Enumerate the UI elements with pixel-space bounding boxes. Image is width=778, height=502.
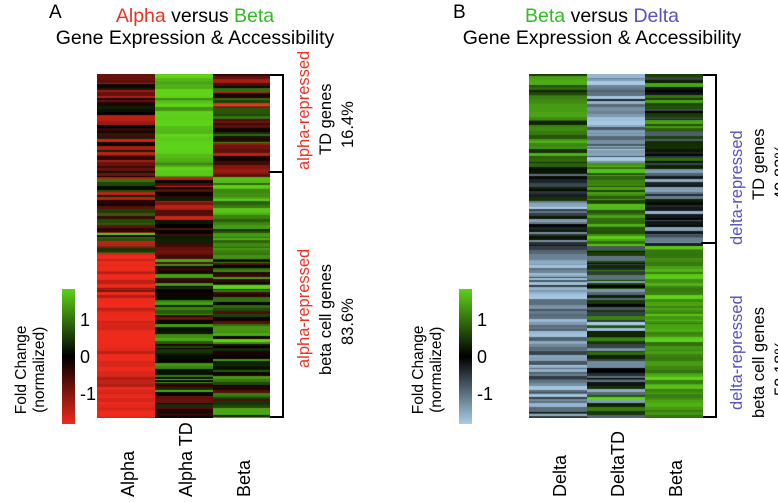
panel-a-colorbar-axis-label-line1: Fold Change xyxy=(13,310,31,430)
panel-b-group2-label-colored: delta-repressed xyxy=(729,295,746,410)
panel-a-colorbar-tick-1: 1 xyxy=(80,311,90,329)
panel-b-colorbar-tick-0: 0 xyxy=(477,348,487,366)
panel-a-xlabel-alpha-td: Alpha TD xyxy=(177,422,195,497)
panel-b-colorbar xyxy=(459,289,472,424)
panel-a-colorbar-axis-label-line2: (normalized) xyxy=(31,310,49,430)
panel-a-group2-percent: 83.6% xyxy=(340,298,357,345)
panel-b-title-line1: Beta versus Delta xyxy=(437,6,767,28)
panel-b-colorbar-ticks: 1 0 -1 xyxy=(477,289,517,424)
panel-a-heatmap-column-alpha-td xyxy=(155,74,213,418)
panel-b-xlabel-deltatd: DeltaTD xyxy=(609,431,627,497)
panel-a-colorbar-tick-0: 0 xyxy=(80,348,90,366)
panel-b-xlabel-beta: Beta xyxy=(667,460,685,497)
panel-b-title-token-beta: Beta xyxy=(525,5,565,27)
panel-a-heatmap xyxy=(97,74,270,418)
panel-b-group-divider-tick xyxy=(701,242,717,244)
panel-b-title-token-delta: Delta xyxy=(633,5,679,27)
panel-b-xlabel-delta: Delta xyxy=(551,455,569,497)
panel-a-xlabel-alpha: Alpha xyxy=(119,451,137,497)
panel-b-heatmap-column-deltatd xyxy=(587,74,645,418)
panel-a-group2-label-plain: beta cell genes xyxy=(318,264,335,375)
panel-a-colorbar-tick-neg1: -1 xyxy=(80,385,96,403)
panel-a-group1-label-plain: TD genes xyxy=(318,83,335,155)
panel-a-group2-label-colored: alpha-repressed xyxy=(296,249,313,368)
panel-b-group2-label-plain: beta cell genes xyxy=(751,307,768,418)
panel-a-group1-percent: 16.4% xyxy=(340,101,357,148)
panel-a-xlabel-beta: Beta xyxy=(235,460,253,497)
panel-b-title: Beta versus Delta Gene Expression & Acce… xyxy=(437,6,767,50)
panel-a-colorbar xyxy=(62,289,75,424)
panel-b-heatmap-column-delta xyxy=(529,74,587,418)
panel-a-group-bracket xyxy=(270,74,284,418)
panel-a-title: Alpha versus Beta Gene Expression & Acce… xyxy=(30,6,360,50)
panel-a-title-line2: Gene Expression & Accessibility xyxy=(30,28,360,50)
panel-b-group1-percent: 49.82% xyxy=(773,144,778,200)
panel-b-title-line2: Gene Expression & Accessibility xyxy=(437,28,767,50)
panel-b: B Beta versus Delta Gene Expression & Ac… xyxy=(389,0,778,502)
panel-b-heatmap-column-beta xyxy=(645,74,703,418)
panel-a-colorbar-ticks: 1 0 -1 xyxy=(80,289,120,424)
panel-b-colorbar-axis-label-line1: Fold Change xyxy=(410,310,428,430)
panel-b-group2-percent: 50.18% xyxy=(773,340,778,396)
panel-a-title-token-alpha: Alpha xyxy=(116,5,166,27)
panel-a-title-line1: Alpha versus Beta xyxy=(30,6,360,28)
panel-b-colorbar-axis-label-line2: (normalized) xyxy=(428,310,446,430)
panel-b-colorbar-tick-neg1: -1 xyxy=(477,385,493,403)
panel-b-heatmap xyxy=(529,74,703,418)
panel-b-colorbar-axis-label: Fold Change (normalized) xyxy=(410,310,446,430)
panel-b-group1-label-plain: TD genes xyxy=(751,128,768,200)
panel-a-group-divider-tick xyxy=(268,171,284,173)
panel-a: A Alpha versus Beta Gene Expression & Ac… xyxy=(0,0,389,502)
panel-a-title-token-beta: Beta xyxy=(234,5,274,27)
panel-b-group1-label-colored: delta-repressed xyxy=(729,130,746,245)
panel-a-colorbar-axis-label: Fold Change (normalized) xyxy=(13,310,49,430)
panel-b-group-bracket xyxy=(703,74,717,418)
panel-a-title-token-versus: versus xyxy=(166,5,234,27)
panel-a-group1-label-colored: alpha-repressed xyxy=(296,51,313,170)
panel-a-heatmap-column-beta xyxy=(213,74,270,418)
panel-b-colorbar-tick-1: 1 xyxy=(477,311,487,329)
panel-b-title-token-versus: versus xyxy=(565,5,633,27)
